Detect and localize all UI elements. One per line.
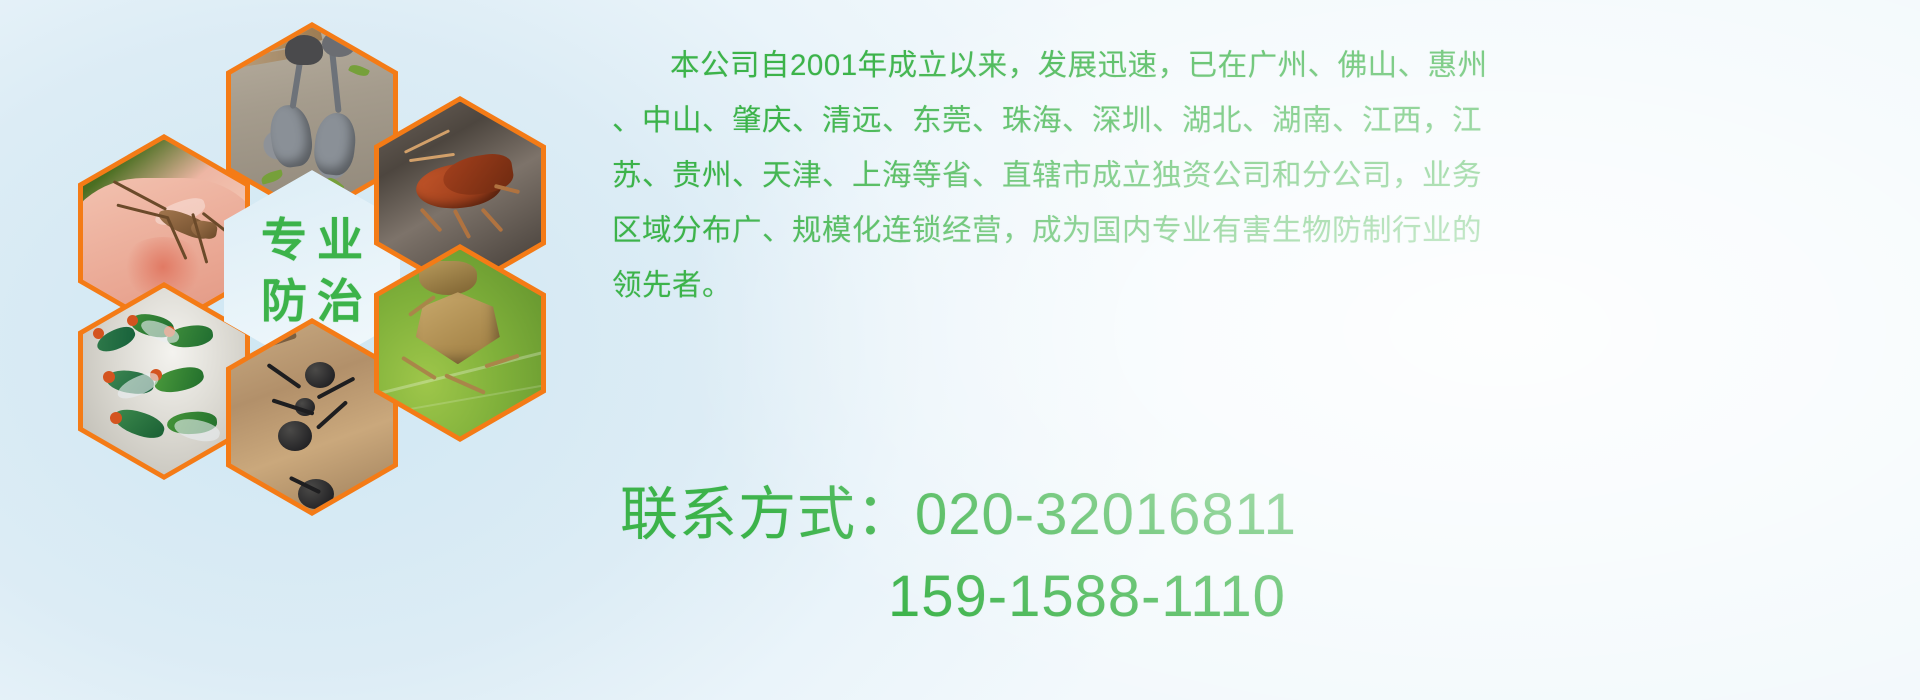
about-line-5: 领先者。 xyxy=(612,258,1897,313)
slogan-line-1: 专业 xyxy=(251,210,373,271)
hex-cell-ant[interactable] xyxy=(226,318,398,516)
contact-block: 联系方式：020-32016811 159-1588-1110 xyxy=(620,474,1297,638)
contact-phone-primary[interactable]: 020-32016811 xyxy=(915,482,1297,547)
stink-bug-photo-icon xyxy=(379,250,541,437)
honeycomb-gallery: 专业 防治 xyxy=(78,0,598,574)
flies-photo-icon xyxy=(83,288,245,475)
about-line-3: 苏、贵州、天津、上海等省、直辖市成立独资公司和分公司，业务 xyxy=(612,148,1897,203)
pest-control-banner: 专业 防治 xyxy=(0,0,1920,700)
ant-photo-icon xyxy=(231,324,393,511)
about-line-4: 区域分布广、规模化连锁经营，成为国内专业有害生物防制行业的 xyxy=(612,203,1897,258)
about-paragraph: 本公司自2001年成立以来，发展迅速，已在广州、佛山、惠州 、中山、肇庆、清远、… xyxy=(612,38,1897,313)
about-line-2: 、中山、肇庆、清远、东莞、珠海、深圳、湖北、湖南、江西，江 xyxy=(612,93,1897,148)
contact-label: 联系方式： xyxy=(620,482,915,547)
about-line-1-text: 本公司自2001年成立以来，发展迅速，已在广州、佛山、惠州 xyxy=(670,49,1488,82)
contact-phone-secondary[interactable]: 159-1588-1110 xyxy=(620,556,1297,638)
about-line-1: 本公司自2001年成立以来，发展迅速，已在广州、佛山、惠州 xyxy=(612,38,1897,93)
